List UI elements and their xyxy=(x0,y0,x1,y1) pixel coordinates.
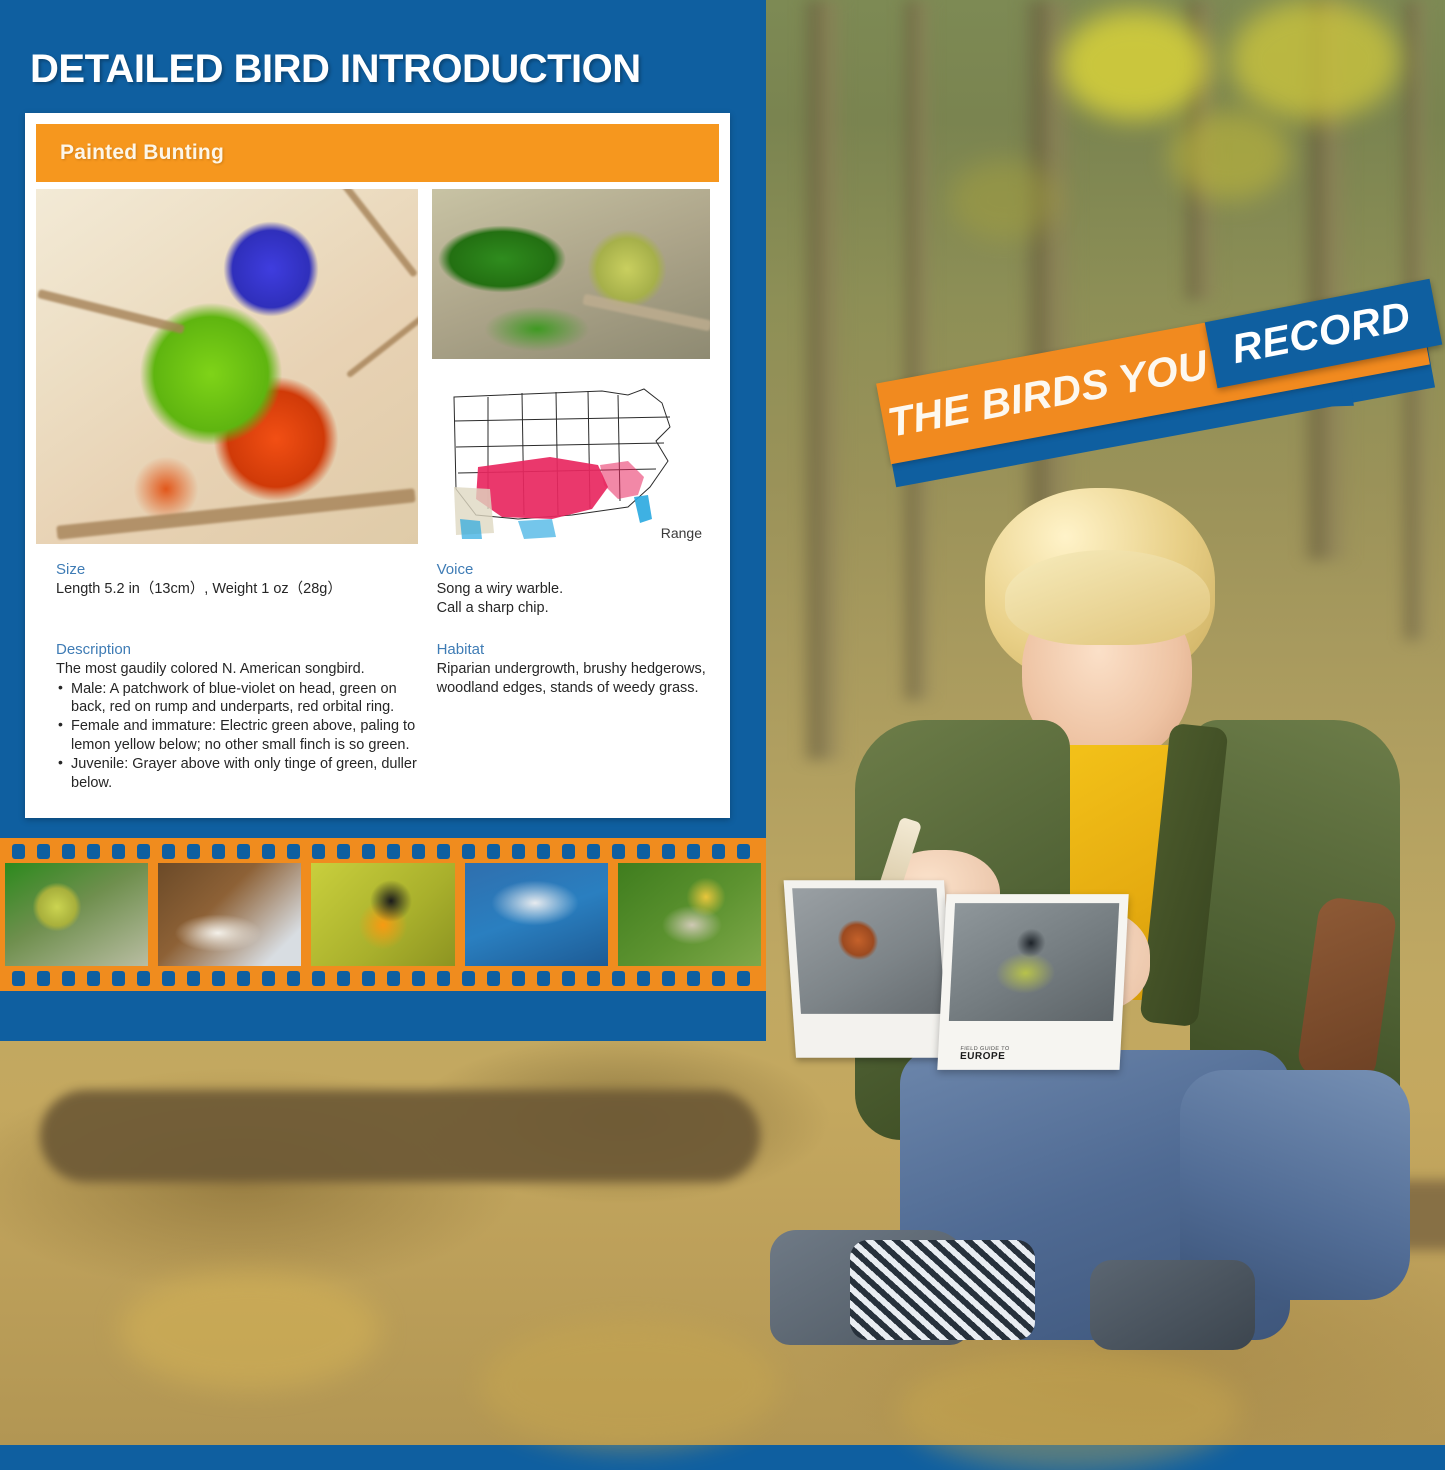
habitat-section: Habitat Riparian undergrowth, brushy hed… xyxy=(437,641,713,792)
sprocket-hole xyxy=(487,844,500,859)
card-text-area: Size Length 5.2 in（13cm）, Weight 1 oz（28… xyxy=(36,561,719,807)
sprocket-hole xyxy=(187,971,200,986)
sprocket-hole xyxy=(62,971,75,986)
sprocket-hole xyxy=(312,844,325,859)
sprocket-hole xyxy=(587,971,600,986)
bird-info-card: Painted Bunting xyxy=(25,113,730,818)
sprocket-hole xyxy=(537,844,550,859)
child-reading-photo-subject: FIELD GUIDE TO EUROPE xyxy=(760,470,1445,1370)
sprocket-hole xyxy=(287,844,300,859)
book-page-right: FIELD GUIDE TO EUROPE xyxy=(937,894,1128,1070)
sprocket-hole xyxy=(437,844,450,859)
sprocket-hole xyxy=(537,971,550,986)
sprocket-hole xyxy=(737,971,750,986)
sprocket-hole xyxy=(137,971,150,986)
sprocket-hole xyxy=(62,844,75,859)
branch xyxy=(314,189,418,278)
sprocket-hole xyxy=(337,971,350,986)
sprocket-hole xyxy=(687,844,700,859)
sprocket-hole xyxy=(687,971,700,986)
sprocket-hole xyxy=(212,971,225,986)
sprocket-hole xyxy=(662,971,675,986)
sprocket-hole xyxy=(512,844,525,859)
sprocket-hole xyxy=(462,844,475,859)
sprocket-hole xyxy=(287,971,300,986)
sprocket-hole xyxy=(87,844,100,859)
list-item: Female and immature: Electric green abov… xyxy=(56,717,423,754)
filmstrip-sprockets-top xyxy=(0,841,766,861)
page-title: DETAILED BIRD INTRODUCTION xyxy=(30,47,641,92)
description-heading: Description xyxy=(56,641,423,658)
foliage-blob xyxy=(1060,10,1210,120)
sprocket-hole xyxy=(612,971,625,986)
sprocket-hole xyxy=(612,844,625,859)
sprocket-hole xyxy=(112,844,125,859)
filmstrip-thumb-baltimore-oriole[interactable] xyxy=(306,863,459,966)
branch xyxy=(582,294,710,332)
sprocket-hole xyxy=(487,971,500,986)
sprocket-hole xyxy=(237,844,250,859)
card-media-row: Range xyxy=(36,182,719,554)
sprocket-hole xyxy=(412,971,425,986)
voice-section: Voice Song a wiry warble. Call a sharp c… xyxy=(437,561,713,617)
leaf-litter xyxy=(120,1270,380,1390)
book-page-left xyxy=(784,880,957,1058)
sprocket-hole xyxy=(162,971,175,986)
book-photo-great-tit xyxy=(949,903,1119,1021)
voice-line-1: Song a wiry warble. xyxy=(437,580,713,599)
size-body: Length 5.2 in（13cm）, Weight 1 oz（28g） xyxy=(56,580,423,599)
field-guide-book: FIELD GUIDE TO EUROPE xyxy=(790,870,1120,1065)
foliage-blob xyxy=(950,160,1060,240)
filmstrip-thumb-bald-eagle[interactable] xyxy=(153,863,306,966)
foliage-blob xyxy=(1170,110,1290,200)
sprocket-hole xyxy=(512,971,525,986)
hair-fringe xyxy=(1005,550,1210,645)
sprocket-hole xyxy=(562,971,575,986)
sprocket-hole xyxy=(737,844,750,859)
sprocket-hole xyxy=(112,971,125,986)
filmstrip-frames xyxy=(0,863,766,966)
sprocket-hole xyxy=(262,844,275,859)
card-header: Painted Bunting xyxy=(36,124,719,182)
sprocket-hole xyxy=(712,844,725,859)
branch-perch xyxy=(56,488,415,540)
sprocket-hole xyxy=(662,844,675,859)
sprocket-hole xyxy=(12,844,25,859)
sprocket-hole xyxy=(362,971,375,986)
description-section: Description The most gaudily colored N. … xyxy=(56,641,437,792)
sprocket-hole xyxy=(387,844,400,859)
sprocket-hole xyxy=(37,844,50,859)
size-section: Size Length 5.2 in（13cm）, Weight 1 oz（28… xyxy=(56,561,437,617)
list-item: Juvenile: Grayer above with only tinge o… xyxy=(56,755,423,792)
sprocket-hole xyxy=(362,844,375,859)
voice-heading: Voice xyxy=(437,561,713,578)
voice-line-2: Call a sharp chip. xyxy=(437,599,713,618)
sprocket-hole xyxy=(37,971,50,986)
sprocket-hole xyxy=(387,971,400,986)
range-map-svg xyxy=(432,369,710,547)
foliage-blob xyxy=(1230,0,1400,120)
sprocket-hole xyxy=(337,844,350,859)
sprocket-hole xyxy=(237,971,250,986)
sprocket-hole xyxy=(712,971,725,986)
sprocket-hole xyxy=(162,844,175,859)
sprocket-hole xyxy=(262,971,275,986)
branch xyxy=(346,306,418,378)
filmstrip-thumb-painted-bunting-female[interactable] xyxy=(0,863,153,966)
sprocket-hole xyxy=(187,844,200,859)
sprocket-hole xyxy=(412,844,425,859)
description-intro: The most gaudily colored N. American son… xyxy=(56,660,423,679)
filmstrip-sprockets-bottom xyxy=(0,968,766,988)
leaf-litter xyxy=(480,1320,780,1450)
fallen-log xyxy=(40,1090,760,1182)
species-name: Painted Bunting xyxy=(36,141,224,165)
sprocket-hole xyxy=(637,971,650,986)
book-caption: FIELD GUIDE TO EUROPE xyxy=(960,1046,1010,1061)
filmstrip-thumb-orchard-oriole[interactable] xyxy=(613,863,766,966)
sprocket-hole xyxy=(212,844,225,859)
shoe-sock-pattern xyxy=(850,1240,1035,1340)
range-map-label: Range xyxy=(661,525,702,541)
filmstrip xyxy=(0,838,766,991)
sprocket-hole xyxy=(87,971,100,986)
range-map: Range xyxy=(432,369,710,547)
habitat-body: Riparian undergrowth, brushy hedgerows, … xyxy=(437,660,713,697)
shoe-right xyxy=(1090,1260,1255,1350)
female-painted-bunting-photo xyxy=(432,189,710,359)
sprocket-hole xyxy=(12,971,25,986)
sprocket-hole xyxy=(637,844,650,859)
sprocket-hole xyxy=(312,971,325,986)
size-heading: Size xyxy=(56,561,423,578)
filmstrip-thumb-tern[interactable] xyxy=(460,863,613,966)
branch xyxy=(37,289,185,334)
sprocket-hole xyxy=(562,844,575,859)
sprocket-hole xyxy=(437,971,450,986)
description-bullet-list: Male: A patchwork of blue-violet on head… xyxy=(56,680,423,792)
sprocket-hole xyxy=(462,971,475,986)
sprocket-hole xyxy=(587,844,600,859)
book-photo-robin xyxy=(792,888,945,1014)
list-item: Male: A patchwork of blue-violet on head… xyxy=(56,680,423,717)
sprocket-hole xyxy=(137,844,150,859)
male-painted-bunting-photo xyxy=(36,189,418,544)
habitat-heading: Habitat xyxy=(437,641,713,658)
